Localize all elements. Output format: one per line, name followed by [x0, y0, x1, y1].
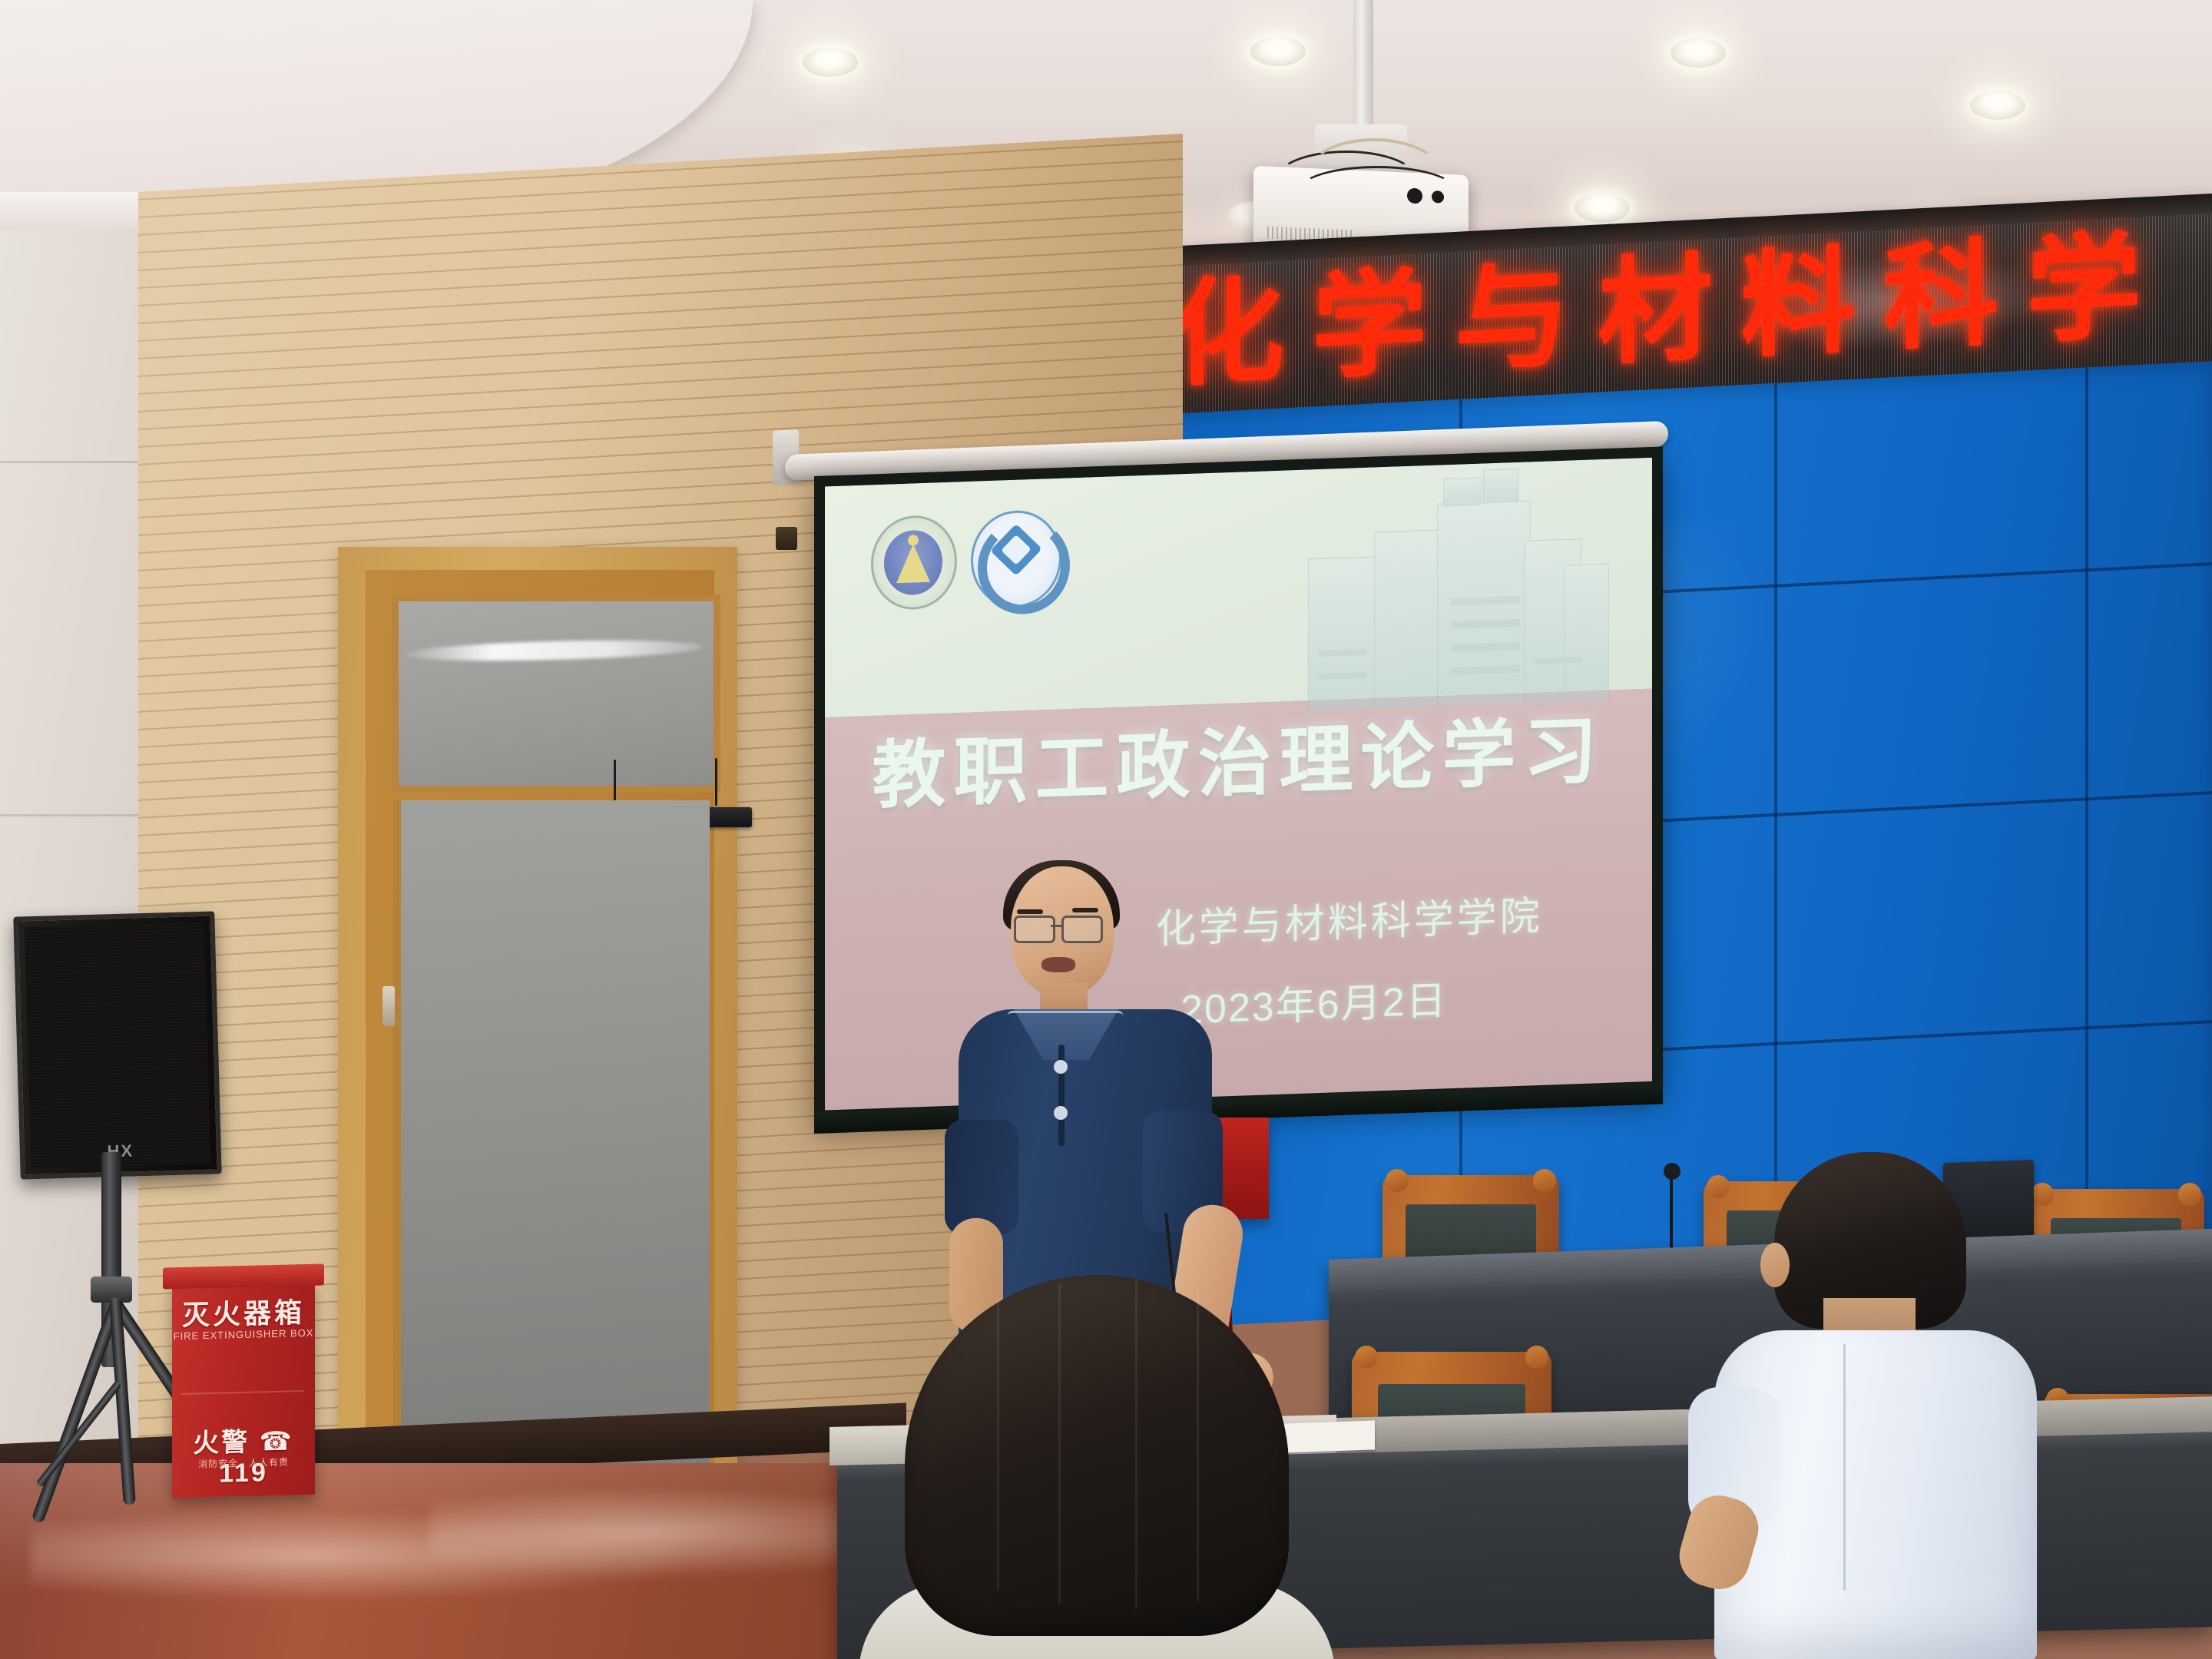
- glasses-lens-right: [1061, 916, 1103, 943]
- person-ear: [1760, 1243, 1790, 1287]
- seal-core: [884, 529, 942, 596]
- college-diamond-logo: [971, 509, 1061, 609]
- door-frame[interactable]: [338, 547, 737, 1492]
- hair-strand: [1197, 1287, 1199, 1602]
- shirt-button: [1054, 1106, 1068, 1120]
- downlight-icon: [1671, 38, 1726, 68]
- seal-figure: [896, 544, 930, 584]
- conference-room-photo: 化学与材料科学 HX: [0, 0, 2212, 1659]
- speaker-grill: [25, 922, 211, 1168]
- transom-glare: [403, 637, 703, 664]
- hair-strand: [1135, 1280, 1137, 1610]
- chair-knob: [1533, 1169, 1556, 1192]
- receiver-antenna: [715, 758, 717, 806]
- college-building-photo: [1308, 485, 1608, 711]
- building-wing: [1565, 564, 1609, 702]
- loudspeaker-cabinet: HX: [13, 911, 221, 1179]
- chair-knob: [1386, 1169, 1409, 1192]
- downlight-icon: [1250, 37, 1306, 66]
- shirt-button: [1054, 1060, 1068, 1074]
- door-glass-panel: [393, 800, 710, 1492]
- screen-wall-hook: [776, 527, 797, 550]
- glasses-lens-left: [1014, 916, 1055, 943]
- chair-knob: [1525, 1346, 1548, 1369]
- door-handle[interactable]: [382, 986, 395, 1026]
- shirt-seam: [1843, 1344, 1846, 1590]
- slide-title: 教职工政治理论学习: [825, 707, 1652, 821]
- downlight-icon: [803, 48, 858, 77]
- eyeglasses: [1014, 916, 1109, 940]
- seated-participant: [1659, 1152, 2089, 1659]
- person-hair: [905, 1275, 1289, 1636]
- fire-box-lid: [163, 1263, 324, 1289]
- fire-extinguisher-box[interactable]: 灭火器箱 FIRE EXTINGUISHER BOX 火警 ☎ 119 消防安全…: [172, 1280, 315, 1498]
- hair-strand: [997, 1298, 999, 1590]
- projector-cable: [1298, 166, 1456, 215]
- hair-strand: [1058, 1283, 1061, 1605]
- person-mouth: [1041, 957, 1075, 972]
- chair-knob: [2178, 1183, 2201, 1206]
- projector-mount-pole: [1353, 0, 1373, 135]
- downlight-icon: [1575, 194, 1630, 223]
- panel-seam: [2085, 367, 2088, 1281]
- door-transom-window: [392, 594, 720, 793]
- building-roof-box: [1443, 478, 1482, 507]
- building-wing: [1374, 529, 1446, 708]
- shirt-sleeve-left: [945, 1120, 1018, 1235]
- glasses-bridge: [1051, 925, 1061, 927]
- building-roof-box: [1483, 469, 1518, 504]
- foreground-audience-member: [828, 1275, 1366, 1659]
- person-eyebrow: [1072, 908, 1098, 912]
- person-eyebrow: [1017, 909, 1043, 914]
- downlight-icon: [1970, 91, 2025, 120]
- building-wing: [1308, 556, 1383, 710]
